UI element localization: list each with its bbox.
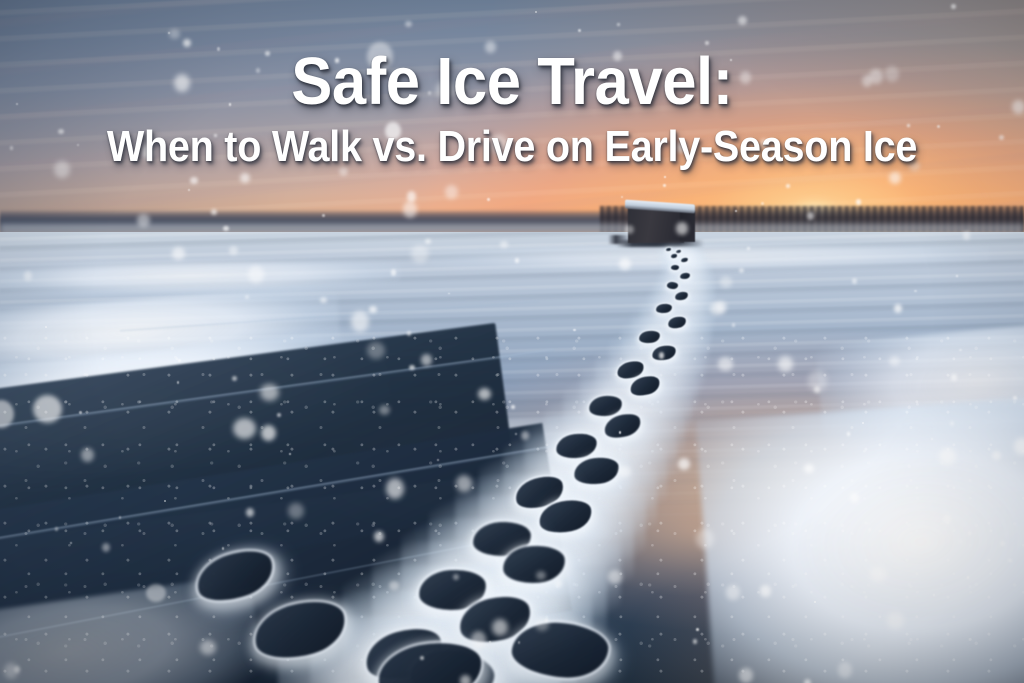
snow-drift-right — [696, 388, 1024, 683]
hero-banner: Safe Ice Travel: When to Walk vs. Drive … — [0, 0, 1024, 683]
shanty-side-wall — [680, 211, 695, 242]
ice-fishing-shanty — [624, 198, 696, 246]
snow-drift-far-right — [430, 244, 990, 275]
shanty-wall — [628, 207, 684, 243]
shanty-sled — [608, 235, 630, 244]
